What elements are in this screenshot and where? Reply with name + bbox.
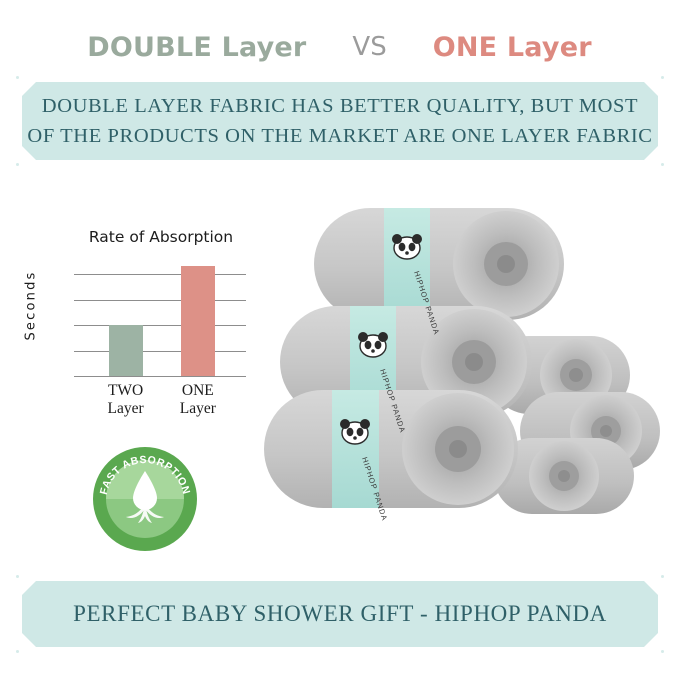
corner-dot-icon [16, 575, 19, 578]
chart-y-axis-label: Seconds [24, 261, 39, 351]
panda-face-icon [358, 332, 388, 357]
top-banner: DOUBLE LAYER FABRIC HAS BETTER QUALITY, … [22, 82, 658, 160]
panda-face-icon [392, 234, 422, 259]
chart-bar-two-layer [109, 325, 143, 376]
towel-roll-top [314, 208, 564, 320]
chart-x-tick-line: ONE [155, 382, 241, 400]
corner-dot-icon [661, 163, 664, 166]
panda-face-icon [340, 419, 370, 444]
corner-dot-icon [661, 650, 664, 653]
chart-gridline [74, 325, 246, 326]
bottom-banner: PERFECT BABY SHOWER GIFT - HIPHOP PANDA [22, 581, 658, 647]
chart-x-tick-label: ONELayer [155, 382, 241, 418]
bottom-banner-wrap: PERFECT BABY SHOWER GIFT - HIPHOP PANDA [22, 581, 658, 647]
vs-label: VS [352, 32, 386, 62]
corner-dot-icon [16, 650, 19, 653]
corner-dot-icon [661, 575, 664, 578]
double-layer-label: DOUBLE Layer [87, 32, 306, 63]
comparison-header: DOUBLE Layer VS ONE Layer [0, 24, 679, 70]
chart-gridline [74, 274, 246, 275]
corner-dot-icon [16, 76, 19, 79]
absorption-bar-chart: Rate of Absorption Seconds 00.751.52.253… [8, 228, 258, 448]
chart-x-tick-line: Layer [155, 400, 241, 418]
fast-absorption-badge: FAST ABSORPTION [92, 446, 198, 552]
top-banner-line-1: DOUBLE LAYER FABRIC HAS BETTER QUALITY, … [42, 91, 638, 121]
chart-gridline [74, 376, 246, 377]
chart-plot-area: 00.751.52.253TWOLayerONELayer [74, 254, 246, 376]
infographic-page: DOUBLE Layer VS ONE Layer DOUBLE LAYER F… [0, 0, 679, 679]
bottom-banner-line-1: PERFECT BABY SHOWER GIFT - HIPHOP PANDA [73, 599, 607, 629]
product-image: HIPHOP PANDA HIPHOP PANDA HIPHOP PANDA [258, 186, 678, 566]
chart-gridline [74, 351, 246, 352]
top-banner-line-2: OF THE PRODUCTS ON THE MARKET ARE ONE LA… [27, 121, 652, 151]
one-layer-label: ONE Layer [433, 32, 592, 63]
chart-title: Rate of Absorption [66, 228, 256, 246]
chart-gridline [74, 300, 246, 301]
corner-dot-icon [661, 76, 664, 79]
corner-dot-icon [16, 163, 19, 166]
top-banner-wrap: DOUBLE LAYER FABRIC HAS BETTER QUALITY, … [22, 82, 658, 160]
chart-bar-one-layer [181, 266, 215, 376]
